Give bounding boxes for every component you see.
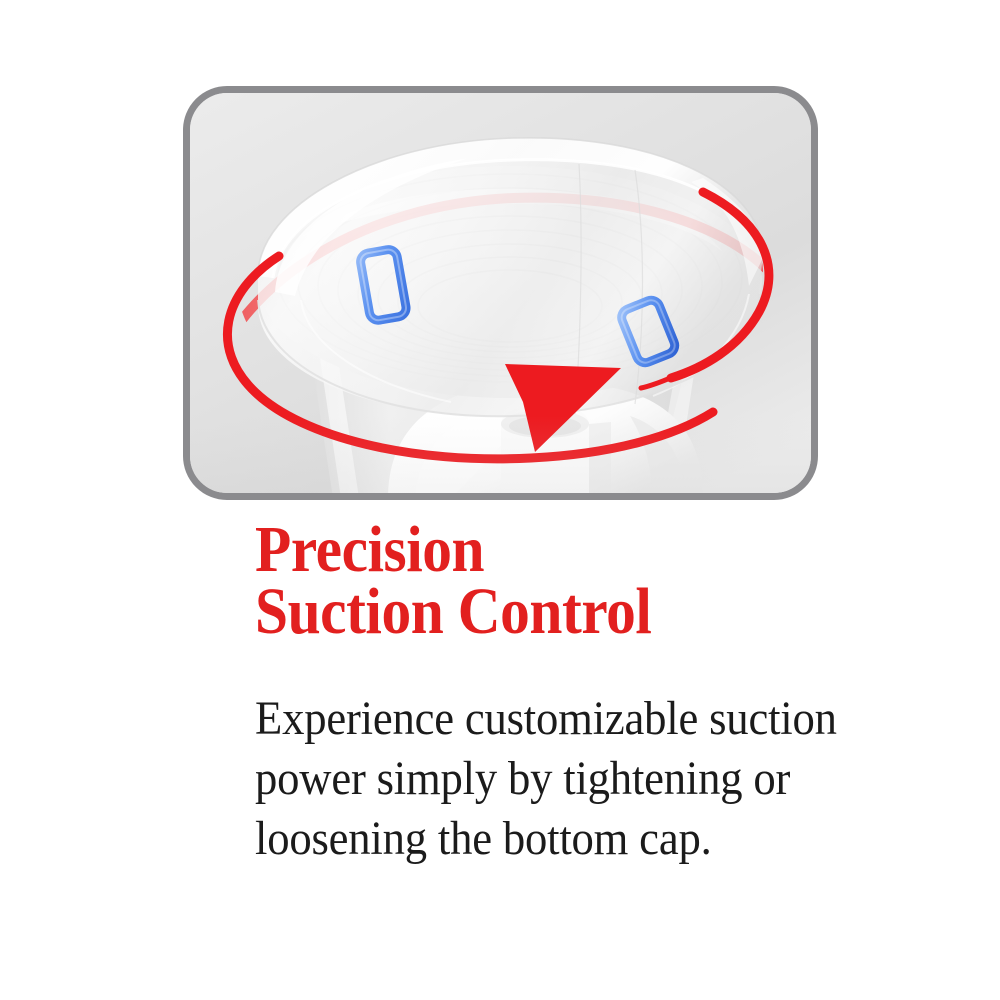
- infographic-page: Precision Suction Control Experience cus…: [0, 0, 1000, 1000]
- product-illustration: [183, 86, 818, 500]
- product-illustration-panel: [183, 86, 818, 500]
- page-title: Precision Suction Control: [255, 519, 813, 643]
- description-text: Experience customizable suction power si…: [255, 689, 850, 869]
